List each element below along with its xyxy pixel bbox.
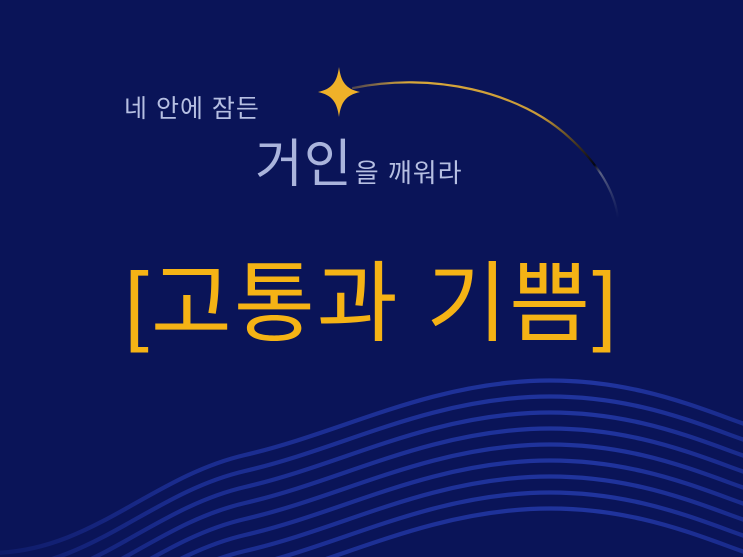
- kicker-text: 네 안에 잠든: [124, 97, 260, 122]
- subtitle-emphasis-text: 거인: [255, 139, 353, 191]
- subtitle-tail-text: 을 깨워라: [355, 160, 463, 186]
- poster-canvas: 네 안에 잠든 거인 을 깨워라 [고통과 기쁨]: [0, 0, 743, 557]
- page-title: [고통과 기쁨]: [0, 258, 743, 350]
- headline-stack: 네 안에 잠든 거인 을 깨워라 [고통과 기쁨]: [0, 0, 743, 557]
- subtitle-row: 거인 을 깨워라: [255, 139, 463, 191]
